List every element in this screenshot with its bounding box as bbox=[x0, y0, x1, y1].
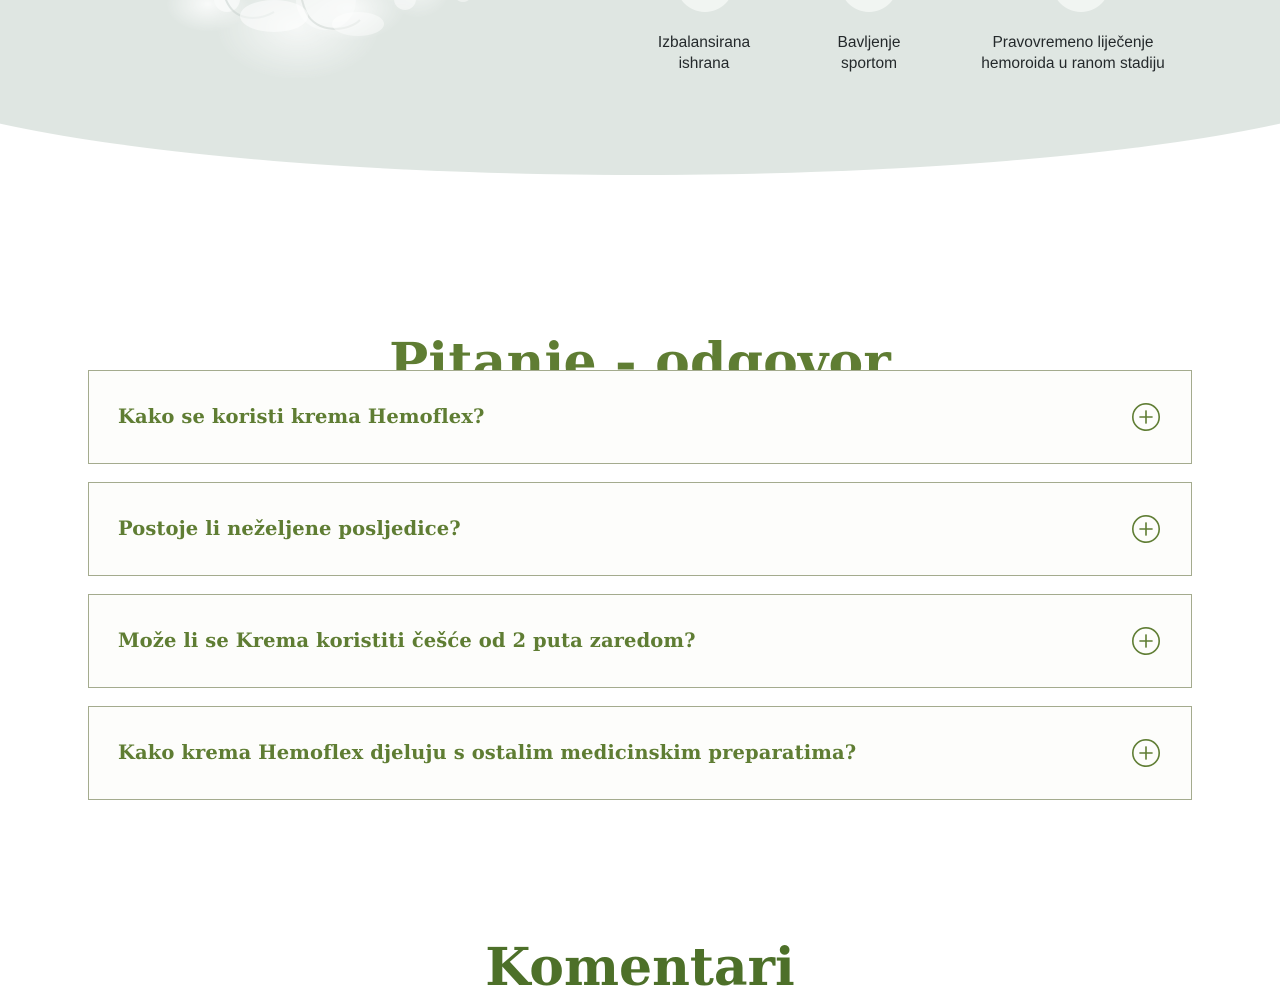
feature-caption-treatment-line1: Pravovremeno liječenje bbox=[992, 34, 1153, 51]
faq-question-1: Kako se koristi krema Hemoflex? bbox=[118, 404, 485, 430]
treatment-icon bbox=[1052, 0, 1110, 12]
feature-caption-treatment-line2: hemoroida u ranom stadiju bbox=[981, 55, 1165, 72]
feature-caption-sport: Bavljenje sportom bbox=[790, 32, 948, 74]
feature-caption-sport-line1: Bavljenje bbox=[838, 34, 901, 51]
splash-strokes-decoration bbox=[88, 0, 508, 78]
nutrition-icon bbox=[676, 0, 734, 12]
plus-circle-icon[interactable] bbox=[1131, 514, 1161, 544]
faq-item-2[interactable]: Postoje li neželjene posljedice? bbox=[88, 482, 1192, 576]
page-root: Izbalansirana ishrana Bavljenje sportom … bbox=[0, 0, 1280, 1000]
plus-circle-icon[interactable] bbox=[1131, 626, 1161, 656]
faq-question-4: Kako krema Hemoflex djeluju s ostalim me… bbox=[118, 740, 856, 766]
feature-icon-row bbox=[620, 0, 1240, 14]
sport-icon bbox=[840, 0, 898, 12]
comments-section-title: Komentari bbox=[0, 936, 1280, 1000]
feature-caption-nutrition: Izbalansirana ishrana bbox=[610, 32, 798, 74]
feature-caption-sport-line2: sportom bbox=[841, 55, 897, 72]
faq-accordion: Kako se koristi krema Hemoflex? Postoje … bbox=[88, 370, 1192, 818]
feature-caption-treatment: Pravovremeno liječenje hemoroida u ranom… bbox=[948, 32, 1198, 74]
faq-question-2: Postoje li neželjene posljedice? bbox=[118, 516, 461, 542]
faq-item-1[interactable]: Kako se koristi krema Hemoflex? bbox=[88, 370, 1192, 464]
faq-item-3[interactable]: Može li se Krema koristiti češće od 2 pu… bbox=[88, 594, 1192, 688]
faq-question-3: Može li se Krema koristiti češće od 2 pu… bbox=[118, 628, 696, 654]
plus-circle-icon[interactable] bbox=[1131, 738, 1161, 768]
feature-caption-nutrition-line1: Izbalansirana bbox=[658, 34, 750, 51]
faq-item-4[interactable]: Kako krema Hemoflex djeluju s ostalim me… bbox=[88, 706, 1192, 800]
feature-caption-nutrition-line2: ishrana bbox=[679, 55, 730, 72]
plus-circle-icon[interactable] bbox=[1131, 402, 1161, 432]
hero-section: Izbalansirana ishrana Bavljenje sportom … bbox=[0, 0, 1280, 200]
